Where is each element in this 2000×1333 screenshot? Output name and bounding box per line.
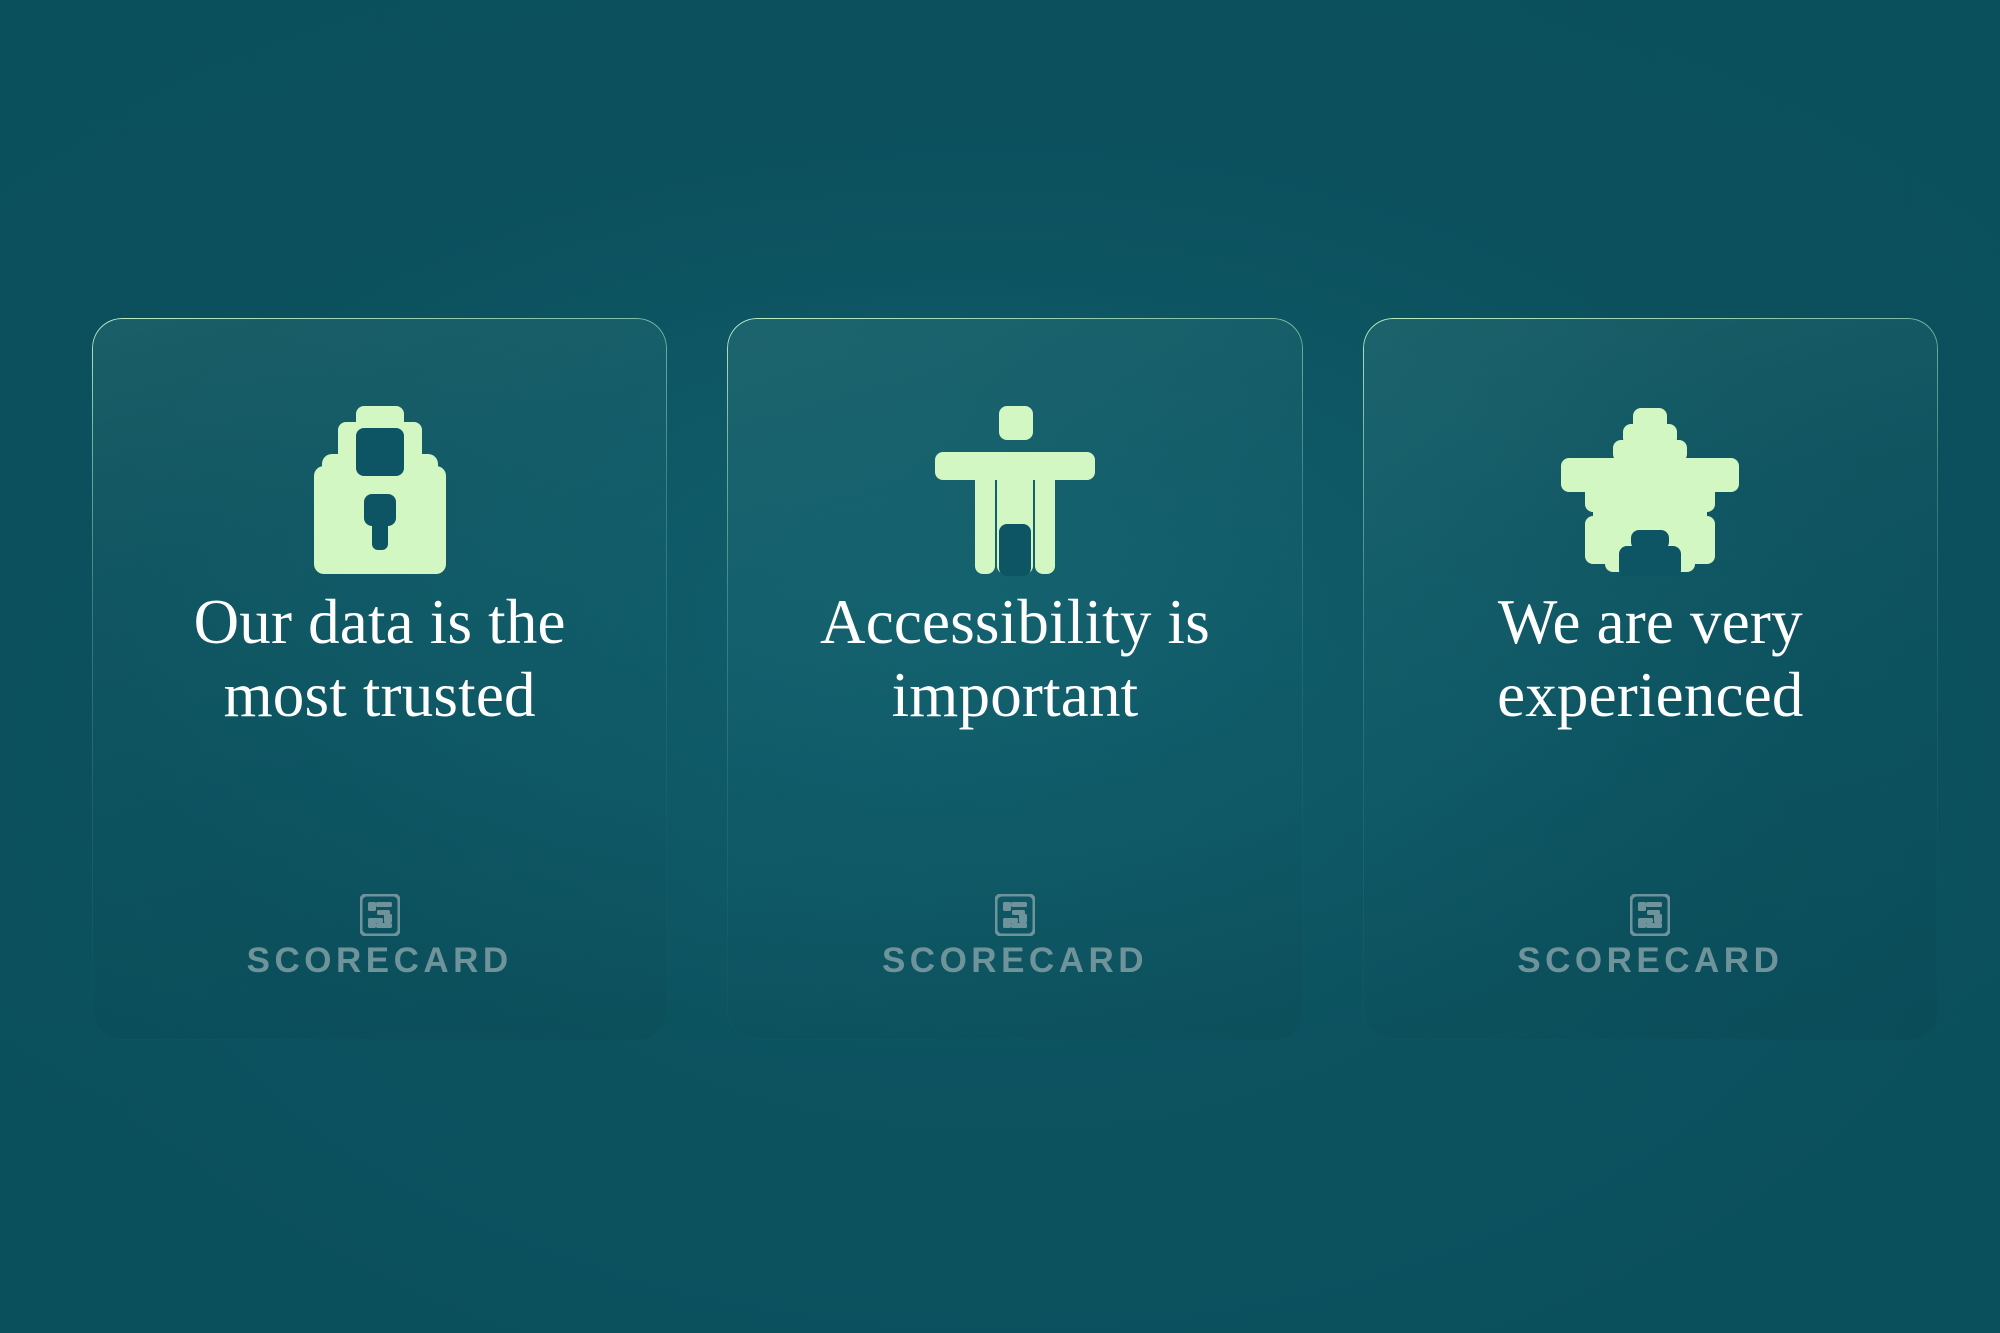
padlock-icon — [298, 400, 462, 580]
feature-card-accessibility[interactable]: Accessibility is important SCORECARD — [727, 318, 1302, 1040]
scorecard-wordmark: SCORECARD — [882, 943, 1148, 978]
feature-card-experience[interactable]: We are very experienced SCORECARD — [1363, 318, 1938, 1040]
scorecard-logo: SCORECARD — [92, 894, 667, 978]
scorecard-logo: SCORECARD — [1363, 894, 1938, 978]
card-title: Accessibility is important — [768, 586, 1263, 732]
feature-card-list: Our data is the most trusted SCORECARD — [92, 318, 1938, 1040]
scorecard-wordmark: SCORECARD — [247, 943, 513, 978]
accessibility-person-icon — [927, 400, 1103, 580]
scorecard-s-mark-icon — [360, 894, 400, 936]
scorecard-wordmark: SCORECARD — [1517, 943, 1783, 978]
scorecard-s-mark-icon — [1630, 894, 1670, 936]
feature-card-trusted-data[interactable]: Our data is the most trusted SCORECARD — [92, 318, 667, 1040]
scorecard-s-mark-icon — [995, 894, 1035, 936]
star-icon — [1557, 400, 1743, 580]
card-title: We are very experienced — [1403, 586, 1898, 732]
scorecard-logo: SCORECARD — [727, 894, 1302, 978]
card-title: Our data is the most trusted — [132, 586, 627, 732]
